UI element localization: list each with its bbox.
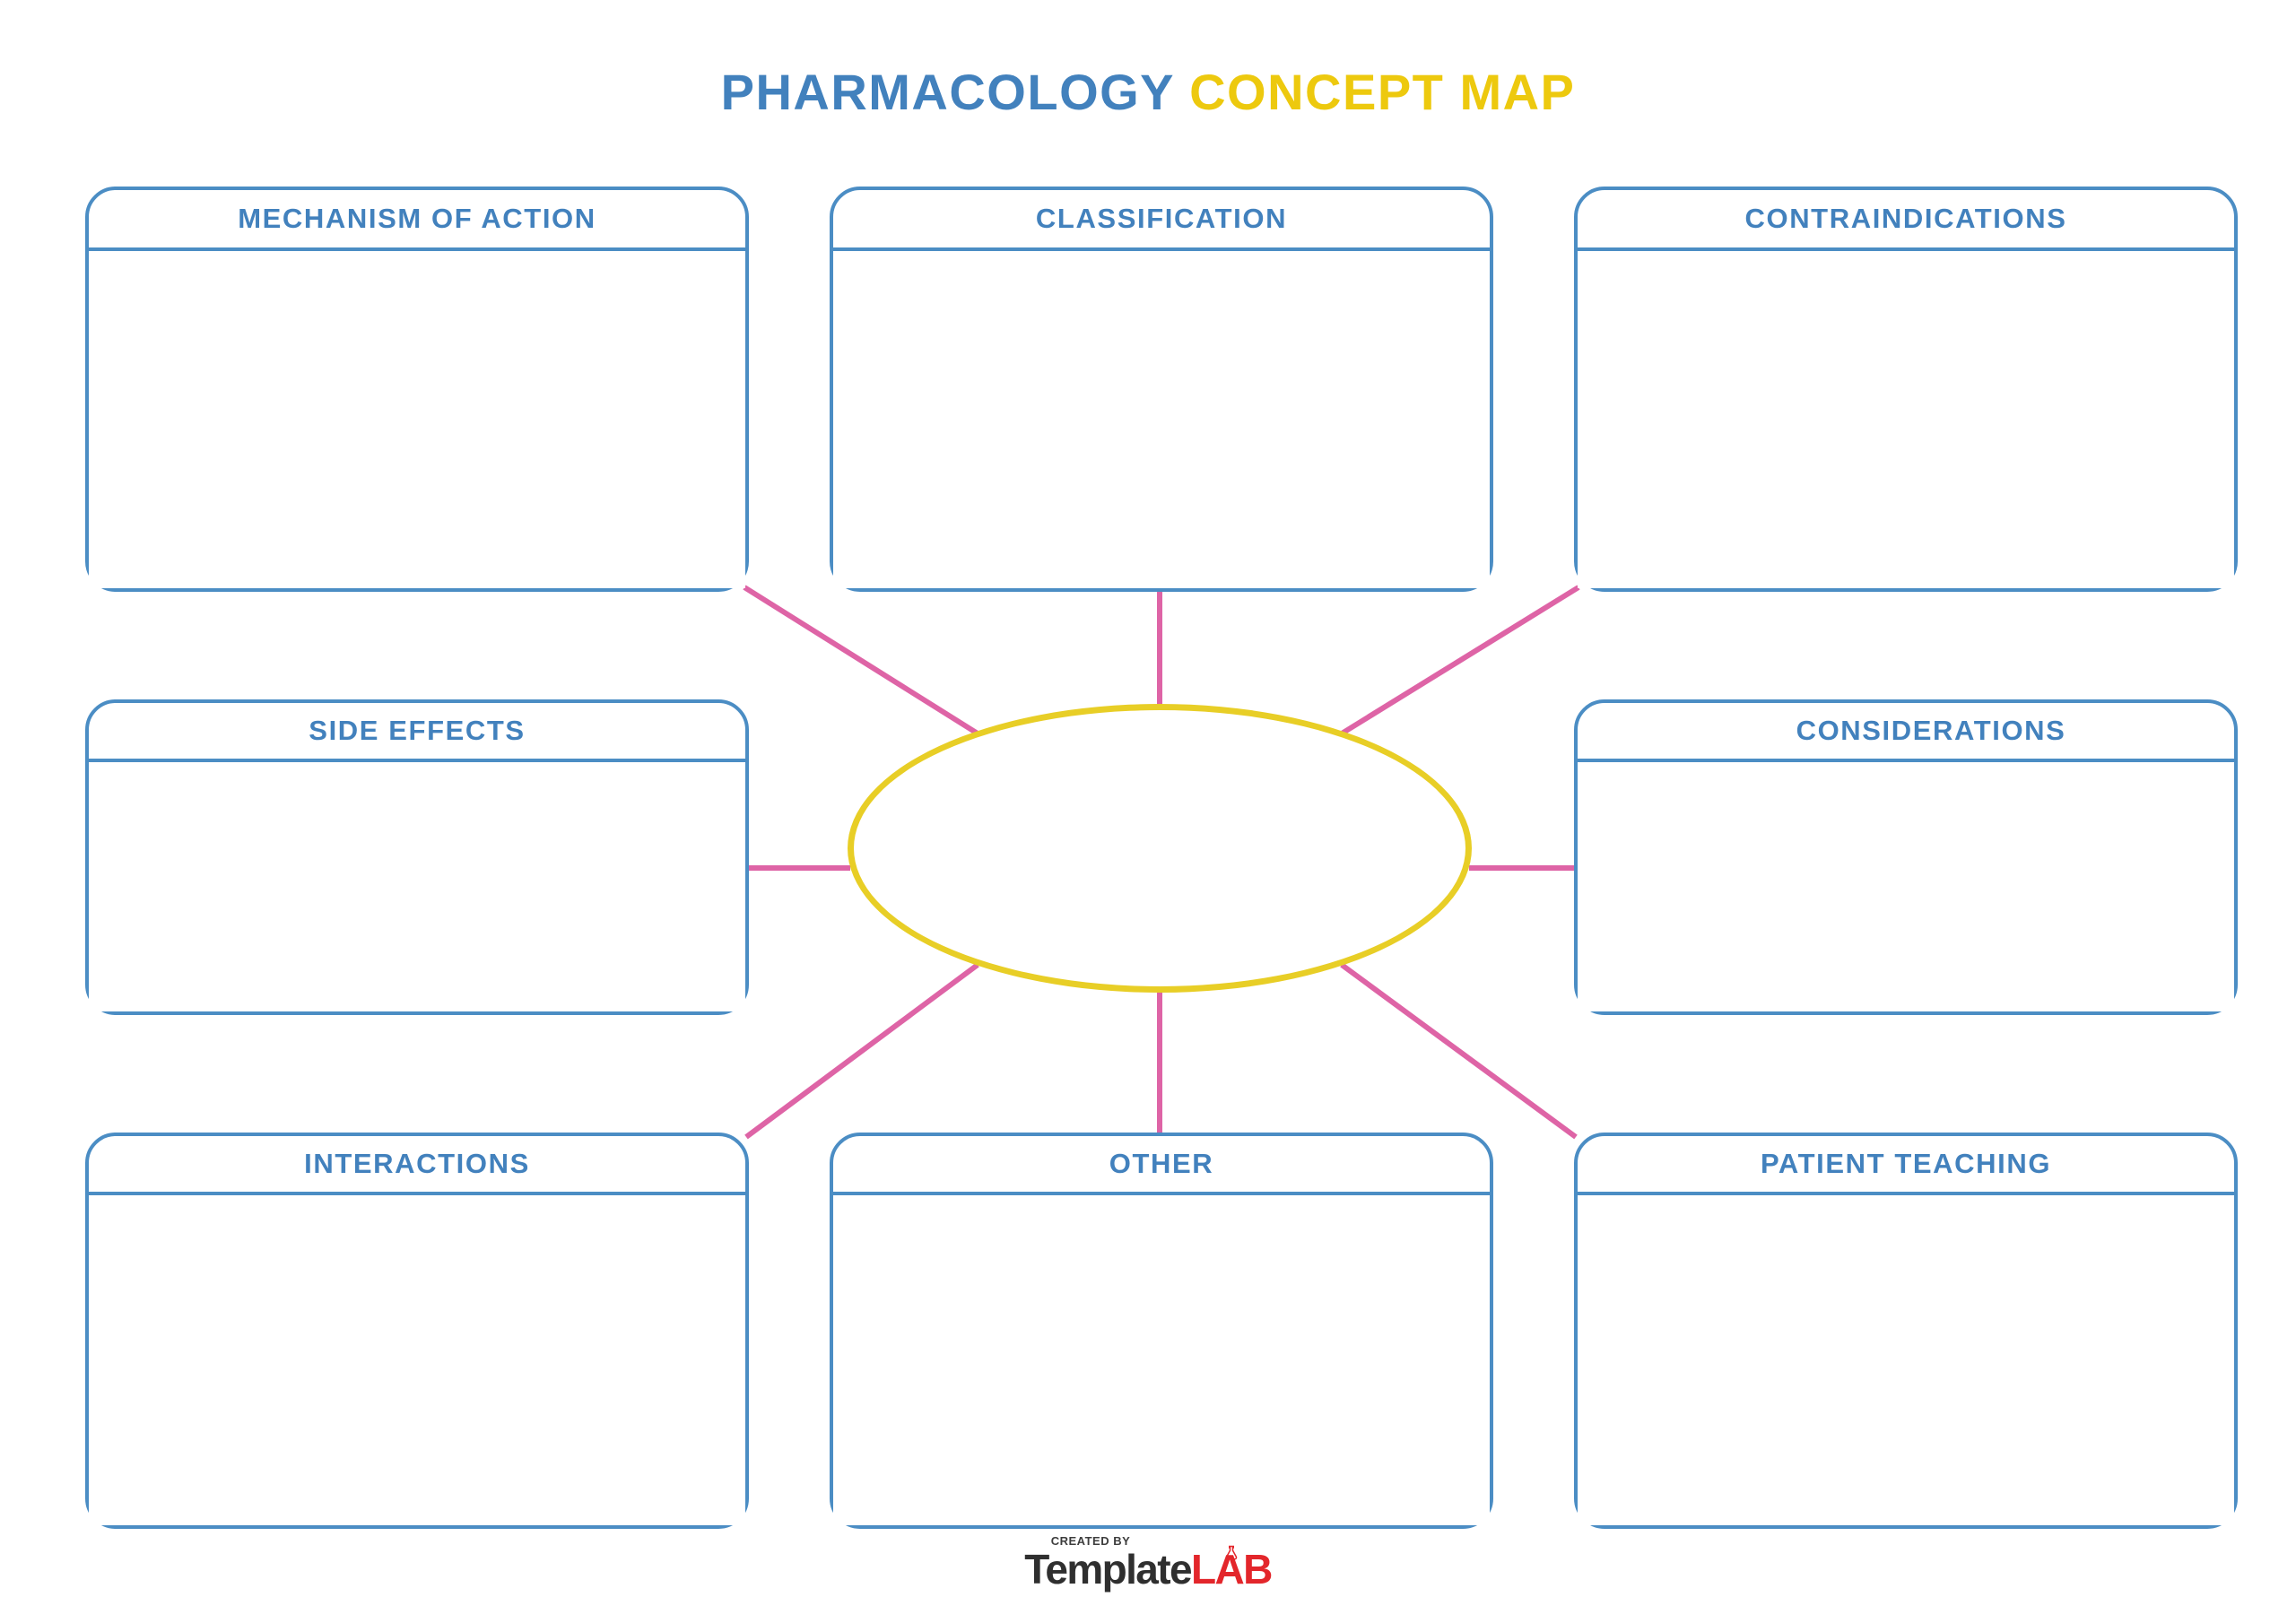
box-contraindications-body[interactable] — [1578, 251, 2234, 588]
box-mechanism-of-action-header: MECHANISM OF ACTION — [89, 190, 745, 251]
box-contraindications-header: CONTRAINDICATIONS — [1578, 190, 2234, 251]
box-side-effects-header: SIDE EFFECTS — [89, 703, 745, 762]
templatelab-logo: CREATED BY TemplateLAB — [0, 1535, 2296, 1590]
box-side-effects-body[interactable] — [89, 762, 745, 1011]
box-classification-header: CLASSIFICATION — [833, 190, 1490, 251]
box-interactions-header: INTERACTIONS — [89, 1136, 745, 1195]
box-interactions-body[interactable] — [89, 1195, 745, 1525]
connector-line-interactions — [746, 965, 978, 1137]
box-contraindications[interactable]: CONTRAINDICATIONS — [1574, 187, 2238, 592]
box-other[interactable]: OTHER — [830, 1133, 1493, 1529]
connector-line-mechanism-of-action — [744, 587, 978, 733]
logo-wordmark: TemplateLAB — [1024, 1549, 1271, 1590]
box-patient-teaching-body[interactable] — [1578, 1195, 2234, 1525]
box-classification-body[interactable] — [833, 251, 1490, 588]
box-interactions[interactable]: INTERACTIONS — [85, 1133, 749, 1529]
box-considerations-body[interactable] — [1578, 762, 2234, 1011]
box-classification[interactable]: CLASSIFICATION — [830, 187, 1493, 592]
box-considerations-header: CONSIDERATIONS — [1578, 703, 2234, 762]
box-other-body[interactable] — [833, 1195, 1490, 1525]
box-mechanism-of-action-body[interactable] — [89, 251, 745, 588]
concept-map-page: PHARMACOLOGY CONCEPT MAP MECHANISM OF — [0, 0, 2296, 1623]
box-considerations[interactable]: CONSIDERATIONS — [1574, 699, 2238, 1015]
box-mechanism-of-action[interactable]: MECHANISM OF ACTION — [85, 187, 749, 592]
box-patient-teaching[interactable]: PATIENT TEACHING — [1574, 1133, 2238, 1529]
logo-brand-template: Template — [1024, 1546, 1191, 1593]
connector-line-contraindications — [1342, 587, 1578, 733]
connector-line-patient-teaching — [1342, 965, 1576, 1137]
flask-icon — [1223, 1545, 1239, 1561]
box-side-effects[interactable]: SIDE EFFECTS — [85, 699, 749, 1015]
box-patient-teaching-header: PATIENT TEACHING — [1578, 1136, 2234, 1195]
box-other-header: OTHER — [833, 1136, 1490, 1195]
center-node-ellipse[interactable] — [848, 704, 1472, 993]
